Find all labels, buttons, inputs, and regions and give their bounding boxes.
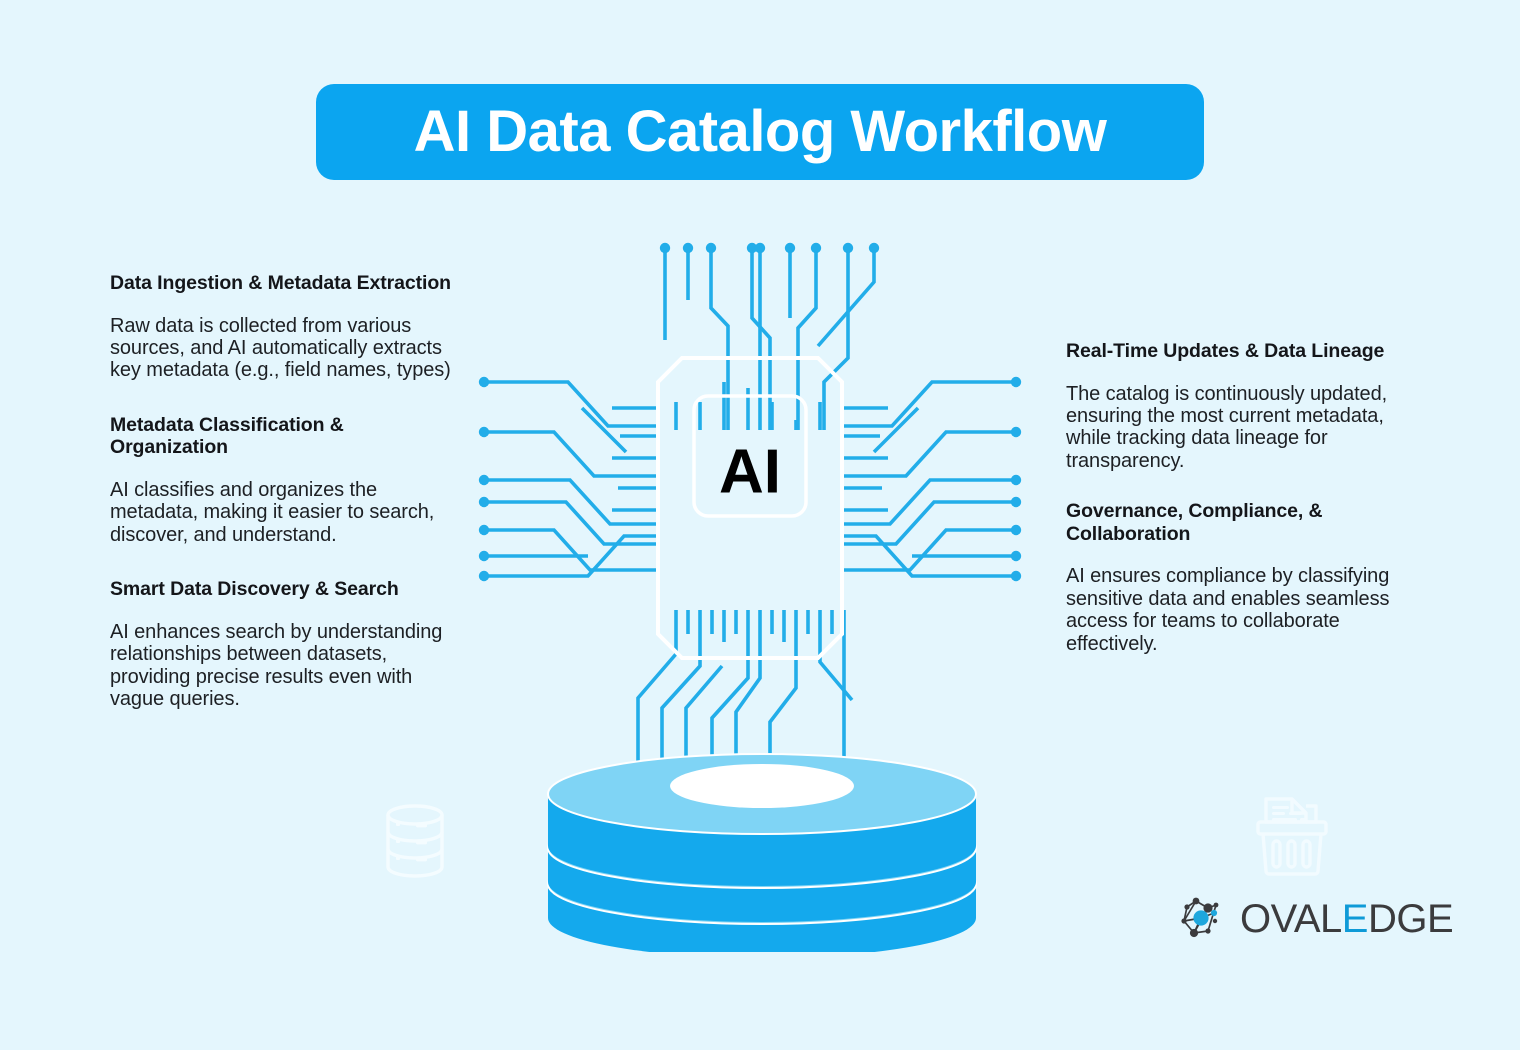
infographic-canvas: AI Data Catalog Workflow xyxy=(0,0,1520,1050)
database-stack-svg xyxy=(522,752,1002,952)
left-decor-diagonal xyxy=(582,408,626,452)
left-text-column: Data Ingestion & Metadata Extraction Raw… xyxy=(110,272,462,716)
page-title: AI Data Catalog Workflow xyxy=(414,103,1107,161)
left-traces xyxy=(484,382,660,576)
ai-chip-diagram: AI xyxy=(460,230,1040,810)
left-trace-terminals xyxy=(479,377,489,581)
step-body: AI enhances search by understanding rela… xyxy=(110,621,462,711)
top-trace-terminals xyxy=(660,243,879,253)
right-chip-pins xyxy=(840,408,888,510)
right-trace-terminals xyxy=(1011,377,1021,581)
step-body: The catalog is continuously updated, ens… xyxy=(1066,383,1396,473)
ai-chip-svg: AI xyxy=(460,230,1040,810)
step-heading: Smart Data Discovery & Search xyxy=(110,578,462,601)
right-decor-diagonal xyxy=(874,408,918,452)
database-top-hole xyxy=(670,764,854,808)
chip-outline xyxy=(658,358,842,658)
ovaledge-network-icon xyxy=(1178,895,1226,943)
chip-ai-label: AI xyxy=(719,437,781,506)
step-block-smart-discovery: Smart Data Discovery & Search AI enhance… xyxy=(110,578,462,710)
step-block-realtime-updates: Real-Time Updates & Data Lineage The cat… xyxy=(1066,340,1396,472)
step-body: AI ensures compliance by classifying sen… xyxy=(1066,565,1396,655)
right-traces xyxy=(840,382,1016,576)
step-body: AI classifies and organizes the metadata… xyxy=(110,479,462,546)
step-block-metadata-classification: Metadata Classification & Organization A… xyxy=(110,414,462,546)
step-heading: Data Ingestion & Metadata Extraction xyxy=(110,272,462,295)
ovaledge-logo[interactable]: OVALEDGE xyxy=(1178,893,1453,945)
step-heading: Metadata Classification & Organization xyxy=(110,414,462,459)
step-heading: Real-Time Updates & Data Lineage xyxy=(1066,340,1396,363)
logo-text-e: E xyxy=(1342,897,1368,941)
database-stack xyxy=(522,752,1002,952)
database-disc-top xyxy=(548,754,976,886)
ovaledge-wordmark: OVALEDGE xyxy=(1240,899,1453,939)
step-block-governance: Governance, Compliance, & Collaboration … xyxy=(1066,500,1396,655)
database-watermark xyxy=(372,798,458,889)
left-chip-pins xyxy=(612,408,660,510)
logo-text-oval: OVAL xyxy=(1240,897,1342,941)
step-body: Raw data is collected from various sourc… xyxy=(110,315,462,382)
right-text-column: Real-Time Updates & Data Lineage The cat… xyxy=(1066,340,1396,661)
page-title-banner: AI Data Catalog Workflow xyxy=(316,84,1204,180)
logo-text-dge: DGE xyxy=(1368,897,1453,941)
step-block-data-ingestion: Data Ingestion & Metadata Extraction Raw… xyxy=(110,272,462,382)
document-trash-watermark xyxy=(1252,786,1348,887)
step-heading: Governance, Compliance, & Collaboration xyxy=(1066,500,1396,545)
